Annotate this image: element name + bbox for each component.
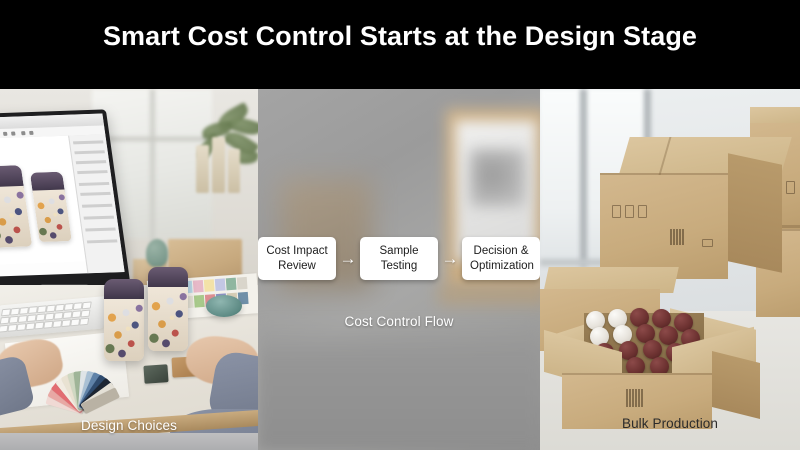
flow-step-sample-testing[interactable]: Sample Testing xyxy=(360,237,438,280)
caption-bulk-production: Bulk Production xyxy=(540,416,800,431)
flow-step-cost-impact-review[interactable]: Cost Impact Review xyxy=(258,237,336,280)
window-frame-bar-1 xyxy=(580,89,587,267)
panel-cost-control-flow: → Cost Impact Review → Sample Testing → … xyxy=(258,89,540,450)
material-sample-dark xyxy=(143,364,168,384)
ceramic-bowl xyxy=(206,295,242,317)
box-back-right-top xyxy=(750,107,800,123)
flow-arrow-1: → xyxy=(336,250,360,267)
blurred-floor xyxy=(258,320,540,450)
desk-front xyxy=(0,433,258,450)
flow-step-decision-optimization[interactable]: Decision & Optimization xyxy=(462,237,540,280)
design-desk-photo xyxy=(0,89,258,450)
carton-right-face xyxy=(712,351,760,419)
window-mullion-vertical xyxy=(150,89,155,241)
caption-cost-control-flow: Cost Control Flow xyxy=(258,314,540,329)
box-symbol-umbrella xyxy=(612,205,621,218)
window-pane-1 xyxy=(540,89,580,259)
hero-box-side xyxy=(728,153,782,272)
box-symbol-glass xyxy=(625,205,634,218)
tin-render-large xyxy=(0,165,32,248)
decor-post-2 xyxy=(212,137,225,193)
box-symbol-fragile-1 xyxy=(786,181,795,194)
page-title: Smart Cost Control Starts at the Design … xyxy=(103,23,697,50)
box-symbol-arrows-up xyxy=(638,205,647,218)
ceramic-vase xyxy=(146,239,168,267)
panel-design-choices: Design Choices xyxy=(0,89,258,450)
panel-bulk-production: Bulk Production xyxy=(540,89,800,450)
decor-post-3 xyxy=(228,149,240,193)
decor-post-1 xyxy=(196,145,209,193)
infographic-canvas: Smart Cost Control Starts at the Design … xyxy=(0,0,800,450)
blurred-artwork xyxy=(470,149,526,207)
hero-box-front xyxy=(600,173,728,279)
product-tin-left xyxy=(104,279,144,361)
monitor-screen xyxy=(0,114,125,277)
blurred-ledge xyxy=(438,285,540,305)
box-barcode-1 xyxy=(670,229,684,245)
box-barcode-2 xyxy=(626,389,643,407)
title-band: Smart Cost Control Starts at the Design … xyxy=(0,0,800,89)
product-tin-right xyxy=(148,267,188,351)
panel-row: Design Choices → Cost Impact Review → Sa… xyxy=(0,89,800,450)
caption-design-choices: Design Choices xyxy=(0,418,258,433)
box-label-patch xyxy=(702,239,713,247)
tin-render-small xyxy=(30,172,72,242)
warehouse-boxes-photo xyxy=(540,89,800,450)
flow-arrow-2: → xyxy=(438,250,462,267)
cost-control-flow-diagram: → Cost Impact Review → Sample Testing → … xyxy=(258,237,540,280)
